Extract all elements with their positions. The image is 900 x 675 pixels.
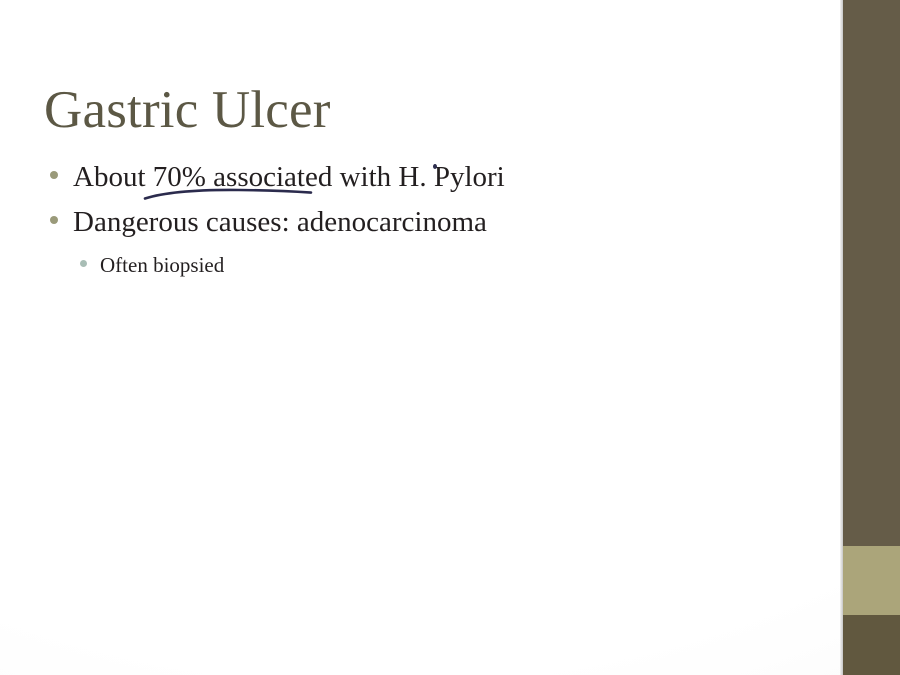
- list-item-label: About 70% associated with H. Pylori: [73, 155, 505, 200]
- ink-dot-annotation: [433, 164, 437, 169]
- bullet-dot-icon: [50, 216, 58, 224]
- sub-list-item: Often biopsied: [80, 247, 810, 283]
- bullet-dot-icon: [50, 171, 58, 179]
- list-item: Dangerous causes: adenocarcinoma: [50, 200, 810, 245]
- list-item-label: Dangerous causes: adenocarcinoma: [73, 200, 487, 245]
- sidebar-band-top: [843, 0, 900, 546]
- page-title: Gastric Ulcer: [44, 82, 804, 139]
- bullet-list: About 70% associated with H. Pylori Dang…: [50, 155, 810, 283]
- list-item: About 70% associated with H. Pylori: [50, 155, 810, 200]
- sidebar-band-bottom: [843, 615, 900, 675]
- sidebar-band-accent: [843, 546, 900, 615]
- decorative-sidebar: [843, 0, 900, 675]
- sub-list-item-label: Often biopsied: [100, 247, 224, 283]
- sub-bullet-dot-icon: [80, 260, 87, 267]
- slide-canvas: Gastric Ulcer About 70% associated with …: [0, 0, 900, 675]
